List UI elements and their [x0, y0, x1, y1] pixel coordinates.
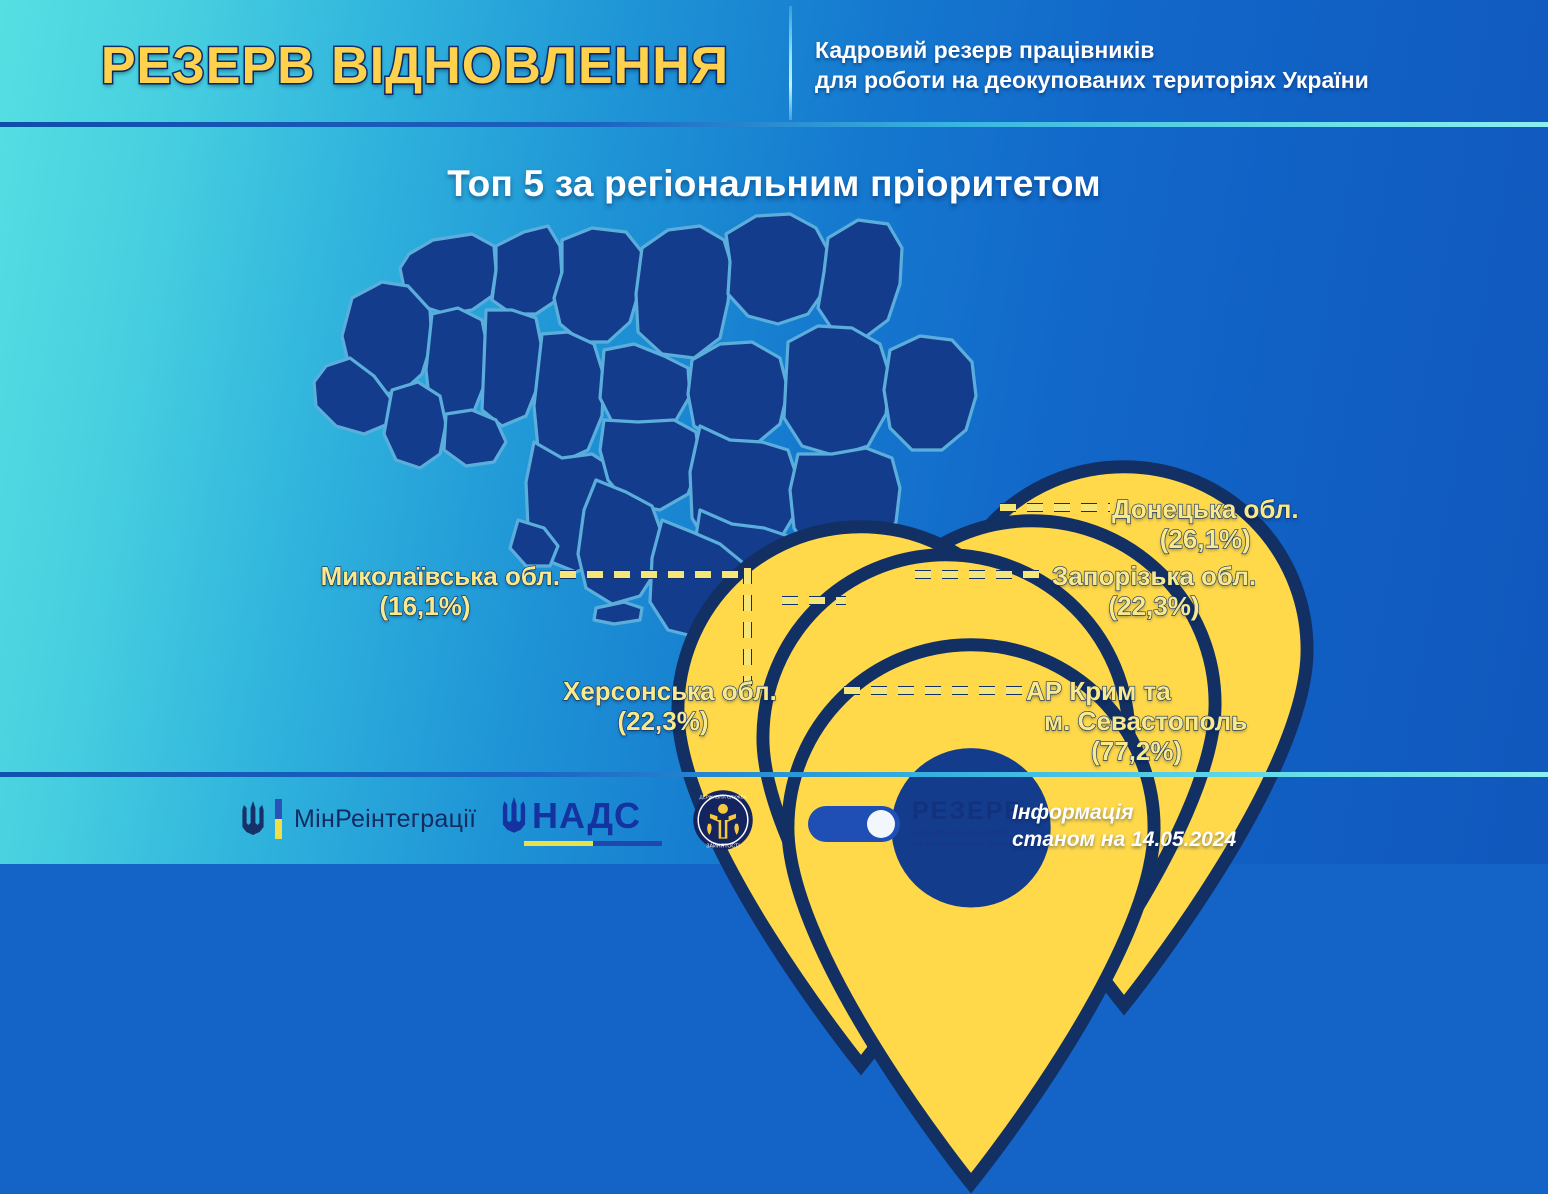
region-name-crimea-line2: м. Севастополь — [1026, 706, 1247, 736]
flag-stripe — [275, 799, 282, 839]
employment-service-icon: ДЕРЖАВНА СЛУЖБА ЗАЙНЯТОСТІ — [692, 789, 754, 851]
region-label-zaporizhzhia: Запорізька обл. (22,3%) — [1052, 561, 1256, 621]
map-marker-donetsk[interactable] — [724, 456, 764, 508]
leader-line-mykolaiv — [560, 571, 750, 578]
nads-label: НАДС — [532, 795, 641, 837]
region-name-donetsk: Донецька обл. — [1112, 494, 1299, 524]
region-label-kherson: Херсонська обл. (22,3%) — [563, 676, 763, 736]
logo-rezerv[interactable]: РЕЗЕРВ для державної служби на деокупова… — [808, 799, 1032, 848]
region-pct-crimea: (77,2%) — [1026, 736, 1247, 766]
logo-minreintegration[interactable]: МінРеінтеграції — [240, 799, 476, 839]
trident-icon — [240, 799, 266, 839]
region-name-crimea-line1: АР Крим та — [1026, 676, 1171, 706]
minreintegration-label: МінРеінтеграції — [294, 805, 476, 834]
region-name-zaporizhzhia: Запорізька обл. — [1052, 561, 1256, 591]
toggle-icon — [808, 806, 900, 842]
region-label-mykolaiv: Миколаївська обл. (16,1%) — [290, 561, 560, 621]
info-line-2: станом на 14.05.2024 — [1012, 826, 1236, 853]
trident-icon — [500, 795, 528, 837]
leader-line-zaporizhzhia — [915, 571, 1050, 578]
logo-state-employment-service[interactable]: ДЕРЖАВНА СЛУЖБА ЗАЙНЯТОСТІ — [692, 789, 754, 851]
region-name-mykolaiv: Миколаївська обл. — [321, 561, 560, 591]
region-label-donetsk: Донецька обл. (26,1%) — [1112, 494, 1299, 554]
nads-underline — [524, 841, 662, 846]
region-name-kherson: Херсонська обл. — [563, 676, 777, 706]
logo-nads[interactable]: НАДС — [500, 795, 641, 837]
leader-line-crimea — [844, 687, 1024, 694]
toggle-knob — [867, 810, 895, 838]
leader-line-kherson-v — [744, 568, 751, 686]
header: РЕЗЕРВ ВІДНОВЛЕННЯ Кадровий резерв праці… — [0, 0, 1548, 124]
dsz-ring-top-text: ДЕРЖАВНА СЛУЖБА — [699, 794, 747, 799]
leader-line-kherson-h — [782, 597, 846, 604]
header-vertical-divider — [789, 6, 792, 120]
region-pct-kherson: (22,3%) — [563, 706, 763, 736]
leader-line-donetsk — [1000, 504, 1110, 511]
info-date-note: Інформація станом на 14.05.2024 — [1012, 799, 1236, 854]
region-pct-zaporizhzhia: (22,3%) — [1052, 591, 1256, 621]
region-pct-donetsk: (26,1%) — [1112, 524, 1299, 554]
info-line-1: Інформація — [1012, 799, 1236, 826]
region-label-crimea: АР Крим та м. Севастополь (77,2%) — [1026, 676, 1247, 766]
infographic-canvas: РЕЗЕРВ ВІДНОВЛЕННЯ Кадровий резерв праці… — [0, 0, 1548, 864]
header-subtitle: Кадровий резерв працівників для роботи н… — [815, 35, 1515, 96]
header-divider — [0, 122, 1548, 127]
subtitle-line-1: Кадровий резерв працівників — [815, 35, 1515, 65]
subtitle-line-2: для роботи на деокупованих територіях Ук… — [815, 65, 1515, 95]
region-pct-mykolaiv: (16,1%) — [290, 591, 560, 621]
section-title: Топ 5 за регіональним пріоритетом — [0, 163, 1548, 205]
footer: МінРеінтеграції НАДС ДЕРЖАВНА СЛУЖБА ЗАЙ… — [0, 777, 1548, 864]
page-title: РЕЗЕРВ ВІДНОВЛЕННЯ — [60, 36, 770, 96]
